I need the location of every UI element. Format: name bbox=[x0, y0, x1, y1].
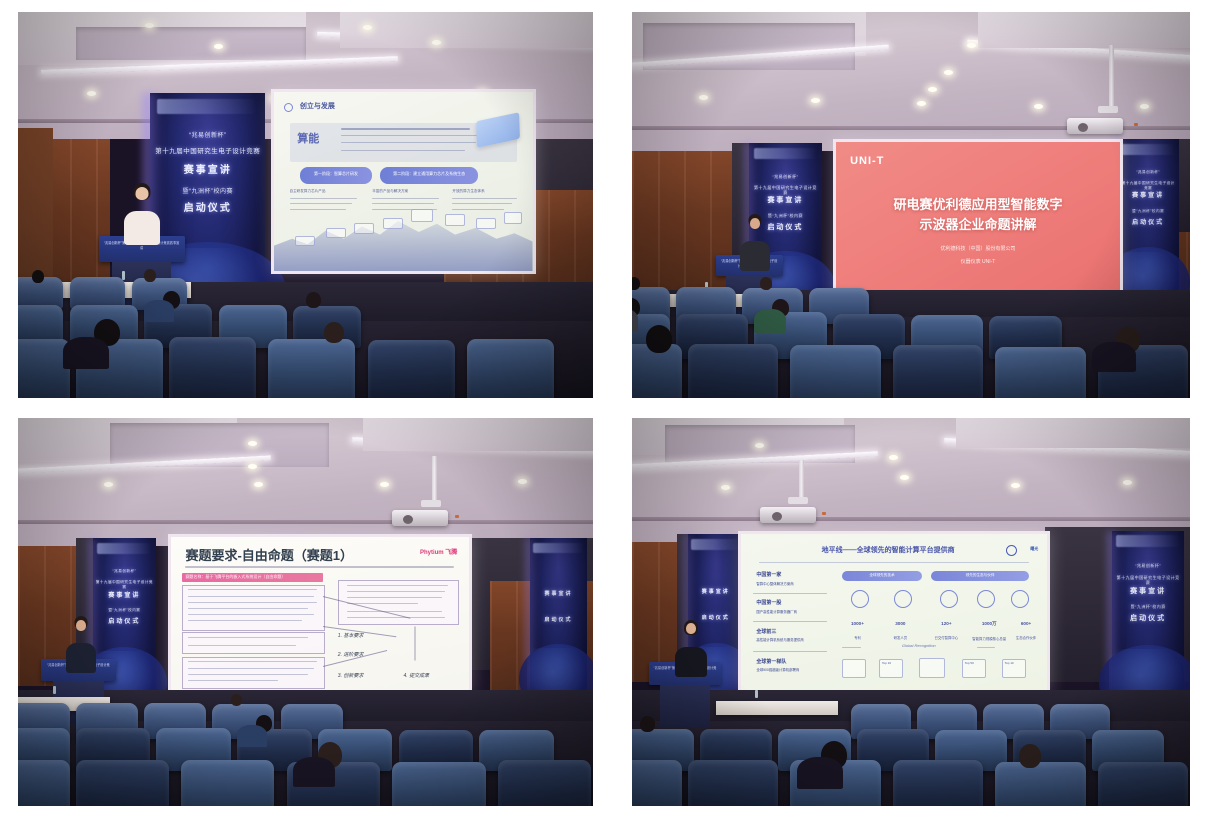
backdrop-line-3: 赛事宣讲 bbox=[752, 197, 819, 206]
speaker-person bbox=[47, 616, 116, 678]
backdrop-line-1-r: “兆易创新杯” bbox=[1120, 170, 1176, 174]
slide-requirement-1: 1. 基本要求 bbox=[338, 632, 364, 639]
slide-group-1-title: 全球领先的技术 bbox=[842, 573, 922, 578]
slide-subtitle-line-1: 优利德科技（中国）股份有限公司 bbox=[887, 245, 1069, 252]
backdrop-line-3-r: 赛事宣讲 bbox=[1120, 193, 1176, 201]
photo-panel-1: “兆易创新杯” 第十九届中国研究生电子设计竞赛 赛事宣讲 暨“九洲杯”校内赛 启… bbox=[18, 12, 593, 398]
slide-innovation-development: 创立与发展 算能 第一阶段：智算芯片研发 第二阶段：建立通用算力芯片及系统生态 … bbox=[274, 92, 533, 271]
slide-col-2-title: 丰富的产品与解决方案 bbox=[372, 189, 408, 194]
projection-screen: 创立与发展 算能 第一阶段：智算芯片研发 第二阶段：建立通用算力芯片及系统生态 … bbox=[271, 89, 536, 274]
backdrop-line-2: 第十九届中国研究生电子设计竞赛 bbox=[95, 580, 153, 589]
photo-panel-3: “兆易创新杯” 第十九届中国研究生电子设计竞赛 赛事宣讲 暨“九洲杯”校内赛 启… bbox=[18, 418, 593, 806]
slide-requirement-2: 2. 进阶要求 bbox=[338, 651, 364, 658]
slide-section-label: 创立与发展 bbox=[300, 101, 335, 111]
slide-requirement-3: 3. 创新要求 bbox=[338, 672, 364, 679]
slide-stat-5-label: 生态合作伙伴 bbox=[1016, 636, 1036, 640]
slide-left-item-4-sub: 全球500强超级计算机部署商 bbox=[756, 667, 799, 672]
backdrop-line-1-r: “兆易创新杯” bbox=[1115, 563, 1182, 568]
backdrop-line-1: “兆易创新杯” bbox=[155, 133, 261, 141]
slide-stat-3-label: 已交付智算中心 bbox=[934, 636, 958, 640]
stage-backdrop-banner-right: 赛事宣讲 启动仪式 bbox=[530, 538, 588, 689]
backdrop-line-4: 暨“九洲杯”校内赛 bbox=[95, 608, 153, 612]
audience-row-near bbox=[18, 744, 593, 806]
slide-title-line-1: 研电赛优利德应用型智能数字 bbox=[853, 194, 1103, 213]
slide-tab-2-label: 第二阶段：建立通用算力芯片及系统生态 bbox=[380, 171, 478, 177]
ceiling bbox=[632, 418, 1190, 542]
phytium-brand-logo: Phytium 飞腾 bbox=[420, 547, 457, 556]
backdrop-line-3-r: 赛事宣讲 bbox=[532, 591, 585, 597]
slide-left-item-2: 中国第一股 bbox=[756, 599, 781, 606]
speaker-person bbox=[654, 620, 727, 682]
projection-screen: 地平线——全球领先的智能计算平台提供商 曙光 中国第一家 智算中心整体解决方案商… bbox=[738, 531, 1050, 694]
slide-phytium-free-topic: 赛题要求-自由命题（赛题1） Phytium 飞腾 赛题名称：基于飞腾平台的嵌入… bbox=[171, 537, 470, 690]
backdrop-line-3-r: 赛事宣讲 bbox=[1115, 588, 1182, 597]
ceiling bbox=[632, 12, 1190, 151]
slide-left-item-3-sub: 高性能计算机系统与服务提供商 bbox=[756, 637, 803, 642]
slide-subtitle-line-2: 仪器仪表 UNI-T bbox=[887, 258, 1069, 265]
slide-stat-1-label: 专利 bbox=[854, 636, 861, 640]
unit-brand-logo: UNI-T bbox=[850, 155, 884, 167]
speaker-person bbox=[721, 213, 788, 275]
stage-backdrop-banner-right: “兆易创新杯” 第十九届中国研究生电子设计竞赛 赛事宣讲 暨“九洲杯”校内赛 启… bbox=[1112, 531, 1185, 694]
slide-stat-4-label: 智能算力规模核心总量 bbox=[972, 637, 1006, 641]
photo-panel-4: 赛事宣讲 启动仪式 “兆易创新杯” 第十九届中国研究生电子设计竞赛 赛事宣讲 暨… bbox=[632, 418, 1190, 806]
photo-panel-2: “兆易创新杯” 第十九届中国研究生电子设计竞赛 赛事宣讲 暨“九洲杯”校内赛 启… bbox=[632, 12, 1190, 398]
backdrop-line-5-r: 启动仪式 bbox=[1120, 220, 1176, 228]
slide-stat-2-value: 3000 bbox=[882, 621, 919, 626]
slide-col-3-title: 开放的算力生态体系 bbox=[452, 189, 484, 194]
slide-left-item-3: 全球前三 bbox=[756, 628, 776, 635]
slide-stat-2-label: 研发人员 bbox=[894, 636, 908, 640]
slide-col-1-title: 自主研发算力芯片产品 bbox=[290, 189, 326, 194]
audience-row-near bbox=[632, 744, 1190, 806]
backdrop-line-4-r: 暨“九洲杯”校内赛 bbox=[1115, 604, 1182, 609]
slide-stat-3-value: 120+ bbox=[925, 621, 968, 626]
slide-left-item-4: 全球第一梯队 bbox=[756, 658, 786, 665]
stage-backdrop-banner-right: “兆易创新杯” 第十九届中国研究生电子设计竞赛 赛事宣讲 暨“九洲杯”校内赛 启… bbox=[1117, 139, 1178, 293]
backdrop-line-3: 赛事宣讲 bbox=[155, 165, 261, 178]
backdrop-line-3: 赛事宣讲 bbox=[95, 593, 153, 601]
backdrop-line-2: 第十九届中国研究生电子设计竞赛 bbox=[155, 148, 261, 156]
slide-title: 地平线——全球领先的智能计算平台提供商 bbox=[778, 545, 999, 555]
backdrop-line-2: 第十九届中国研究生电子设计竞赛 bbox=[752, 185, 819, 195]
backdrop-line-4-r: 暨“九洲杯”校内赛 bbox=[1120, 209, 1176, 213]
slide-requirement-4: 4. 提交成果 bbox=[404, 672, 430, 679]
slide-stat-4-value: 1000万 bbox=[968, 621, 1011, 627]
backdrop-line-2-r: 第十九届中国研究生电子设计竞赛 bbox=[1115, 575, 1182, 585]
sugon-brand-logo: 曙光 bbox=[1030, 546, 1038, 552]
slide-group-2-title: 领先的生态与伙伴 bbox=[931, 573, 1029, 578]
backdrop-line-1: “兆易创新杯” bbox=[95, 569, 153, 573]
audience-row-near bbox=[632, 329, 1190, 398]
slide-left-item-1: 中国第一家 bbox=[756, 571, 781, 578]
slide-stat-1-value: 1000+ bbox=[839, 621, 876, 626]
backdrop-logos bbox=[157, 99, 258, 114]
slide-left-item-1-sub: 智算中心整体解决方案商 bbox=[756, 581, 793, 586]
backdrop-line-1: “兆易创新杯” bbox=[752, 174, 819, 179]
slide-badge-1: Top 10 bbox=[882, 661, 891, 665]
slide-sugon-platform: 地平线——全球领先的智能计算平台提供商 曙光 中国第一家 智算中心整体解决方案商… bbox=[741, 534, 1047, 691]
backdrop-line-5-r: 启动仪式 bbox=[532, 617, 585, 623]
slide-banner-label: 赛题名称：基于飞腾平台的嵌入式系统设计（自由命题） bbox=[185, 574, 322, 580]
slide-stat-5-value: 600+ bbox=[1008, 621, 1045, 626]
ceiling bbox=[18, 418, 593, 546]
photo-collage-sheet: “兆易创新杯” 第十九届中国研究生电子设计竞赛 赛事宣讲 暨“九洲杯”校内赛 启… bbox=[0, 0, 1206, 817]
slide-left-item-2-sub: 国产高性能计算服务器厂商 bbox=[756, 609, 797, 614]
slide-title-line-2: 示波器企业命题讲解 bbox=[853, 214, 1103, 233]
speaker-person bbox=[99, 182, 185, 251]
slide-badge-3: Top 10 bbox=[1005, 661, 1014, 665]
slide-title: 赛题要求-自由命题（赛题1） bbox=[185, 545, 353, 564]
backdrop-line-5-r: 启动仪式 bbox=[1115, 615, 1182, 624]
backdrop-line-3: 赛事宣讲 bbox=[690, 589, 741, 595]
projection-screen: 赛题要求-自由命题（赛题1） Phytium 飞腾 赛题名称：基于飞腾平台的嵌入… bbox=[168, 534, 473, 693]
slide-recognition-label: Global Recognition bbox=[864, 643, 974, 648]
slide-headline: 算能 bbox=[297, 130, 319, 146]
slide-tab-1-label: 第一阶段：智算芯片研发 bbox=[300, 171, 372, 177]
slide-badge-2: Top 50 bbox=[965, 661, 974, 665]
audience-row-near bbox=[18, 321, 593, 398]
backdrop-line-2-r: 第十九届中国研究生电子设计竞赛 bbox=[1120, 181, 1176, 190]
